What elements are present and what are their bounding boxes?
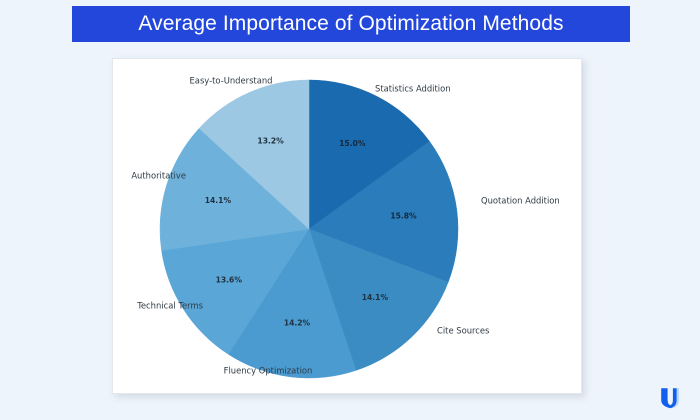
pie-category-label: Quotation Addition xyxy=(481,196,560,206)
pie-chart: 15.0%15.8%14.1%14.2%13.6%14.1%13.2% Stat… xyxy=(113,59,581,393)
pie-category-label: Statistics Addition xyxy=(375,84,451,94)
pie-slice-percent-label: 13.6% xyxy=(216,276,243,285)
page-title: Average Importance of Optimization Metho… xyxy=(138,12,563,36)
screenshot-root: Average Importance of Optimization Metho… xyxy=(0,0,700,420)
pie-category-label: Authoritative xyxy=(131,171,186,181)
pie-slice-percent-label: 15.0% xyxy=(339,139,366,148)
pie-slice-percent-label: 14.1% xyxy=(362,293,389,302)
chart-card: 15.0%15.8%14.1%14.2%13.6%14.1%13.2% Stat… xyxy=(112,58,582,394)
page-title-banner: Average Importance of Optimization Metho… xyxy=(72,6,630,42)
pie-category-label: Cite Sources xyxy=(437,326,489,336)
w-mark-logo-icon xyxy=(655,385,685,411)
pie-chart-svg: 15.0%15.8%14.1%14.2%13.6%14.1%13.2% Stat… xyxy=(113,59,583,395)
pie-slice-group xyxy=(160,80,458,378)
pie-slice-percent-label: 14.2% xyxy=(284,319,311,328)
pie-slice-percent-label: 13.2% xyxy=(257,137,284,146)
pie-slice-percent-label: 15.8% xyxy=(390,212,417,221)
pie-category-label: Technical Terms xyxy=(136,301,203,311)
pie-category-label: Easy-to-Understand xyxy=(190,76,273,86)
pie-slice-percent-label: 14.1% xyxy=(205,196,232,205)
pie-category-label: Fluency Optimization xyxy=(224,366,313,376)
brand-logo xyxy=(655,385,685,411)
